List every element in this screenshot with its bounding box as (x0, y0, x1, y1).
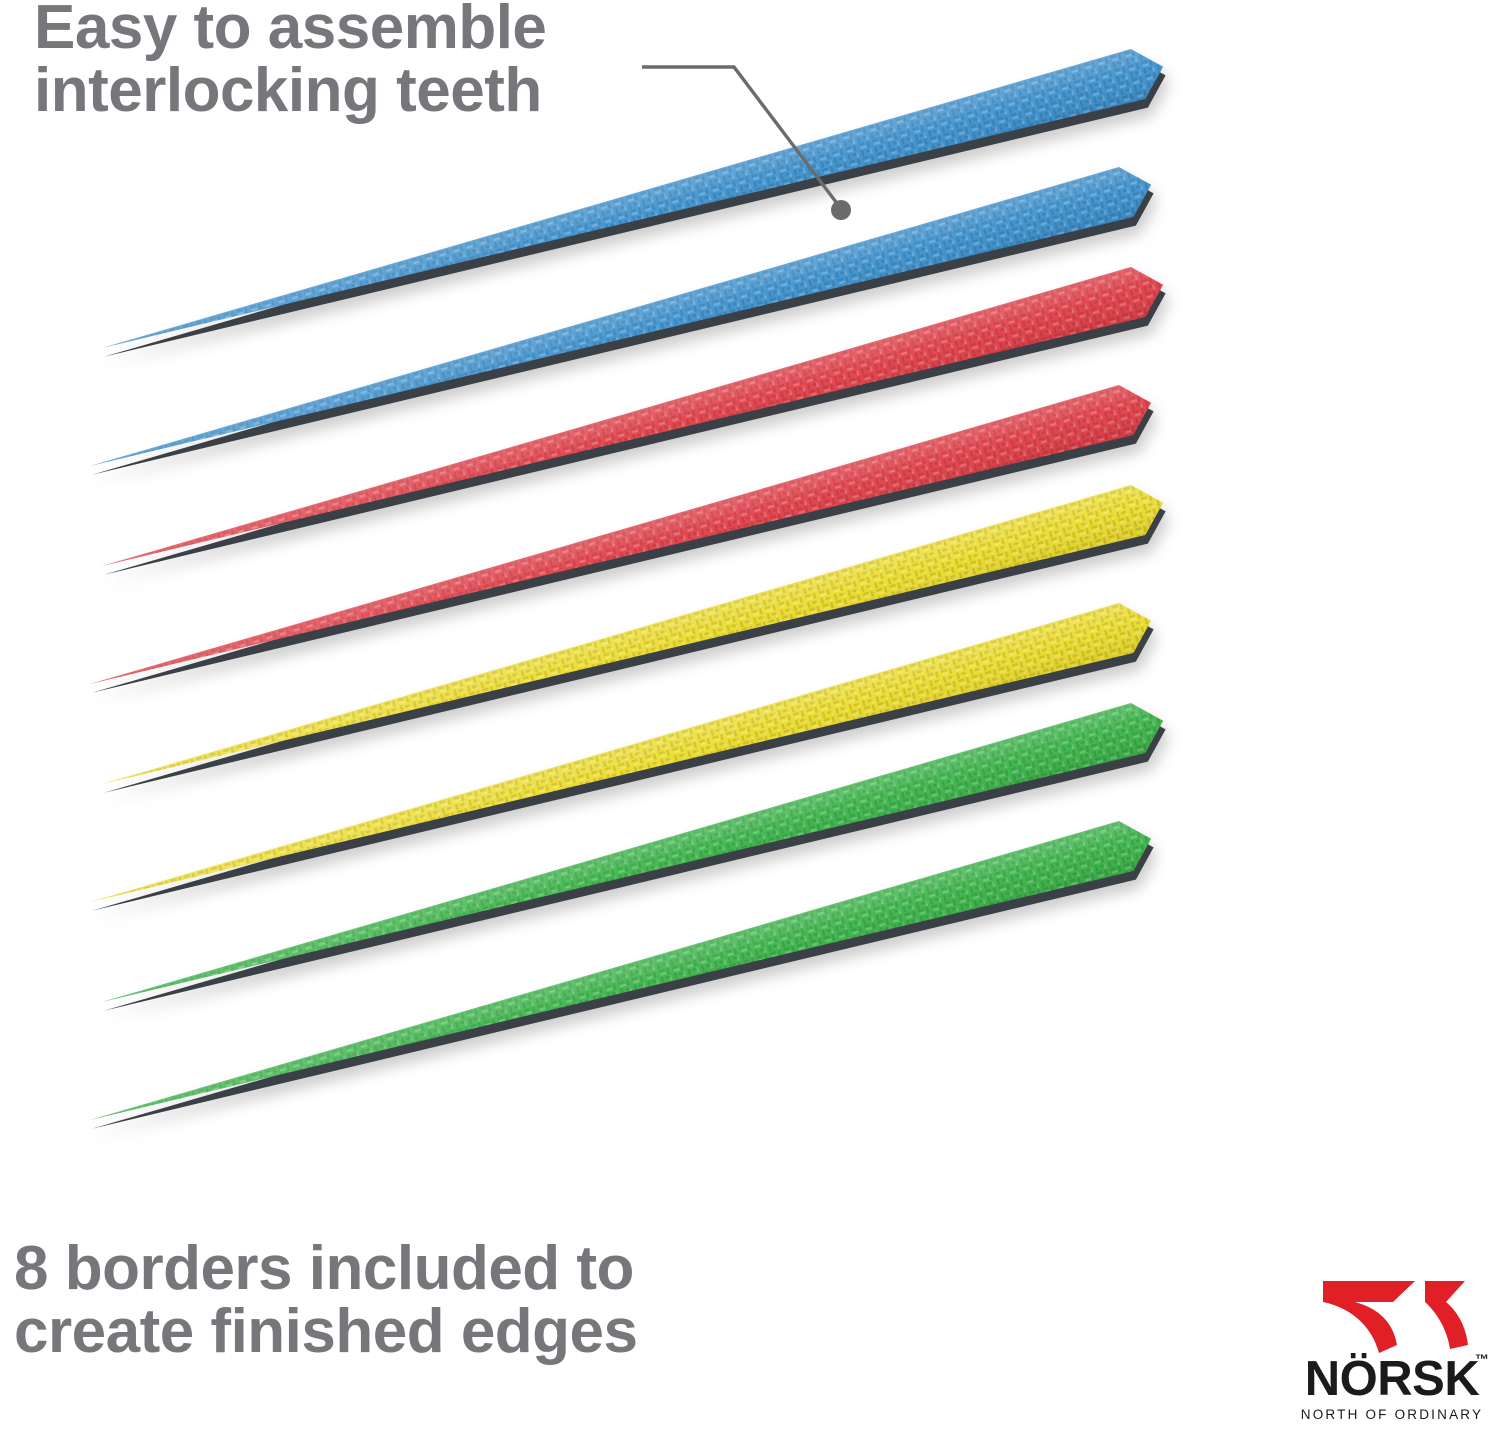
norsk-logo: NÖRSK ™ NORTH OF ORDINARY (1297, 1275, 1487, 1440)
product-illustration (0, 0, 1500, 1240)
infographic-canvas: Easy to assemble interlocking teeth 8 bo… (0, 0, 1500, 1448)
callout-interlocking-teeth: Easy to assemble interlocking teeth (34, 0, 714, 122)
trademark-symbol: ™ (1475, 1351, 1489, 1367)
callout-borders-included: 8 borders included to create finished ed… (14, 1237, 774, 1363)
norsk-wing-swoosh-icon (1319, 1275, 1469, 1353)
norsk-wordmark: NÖRSK (1297, 1355, 1487, 1404)
norsk-tagline: NORTH OF ORDINARY (1297, 1407, 1487, 1422)
